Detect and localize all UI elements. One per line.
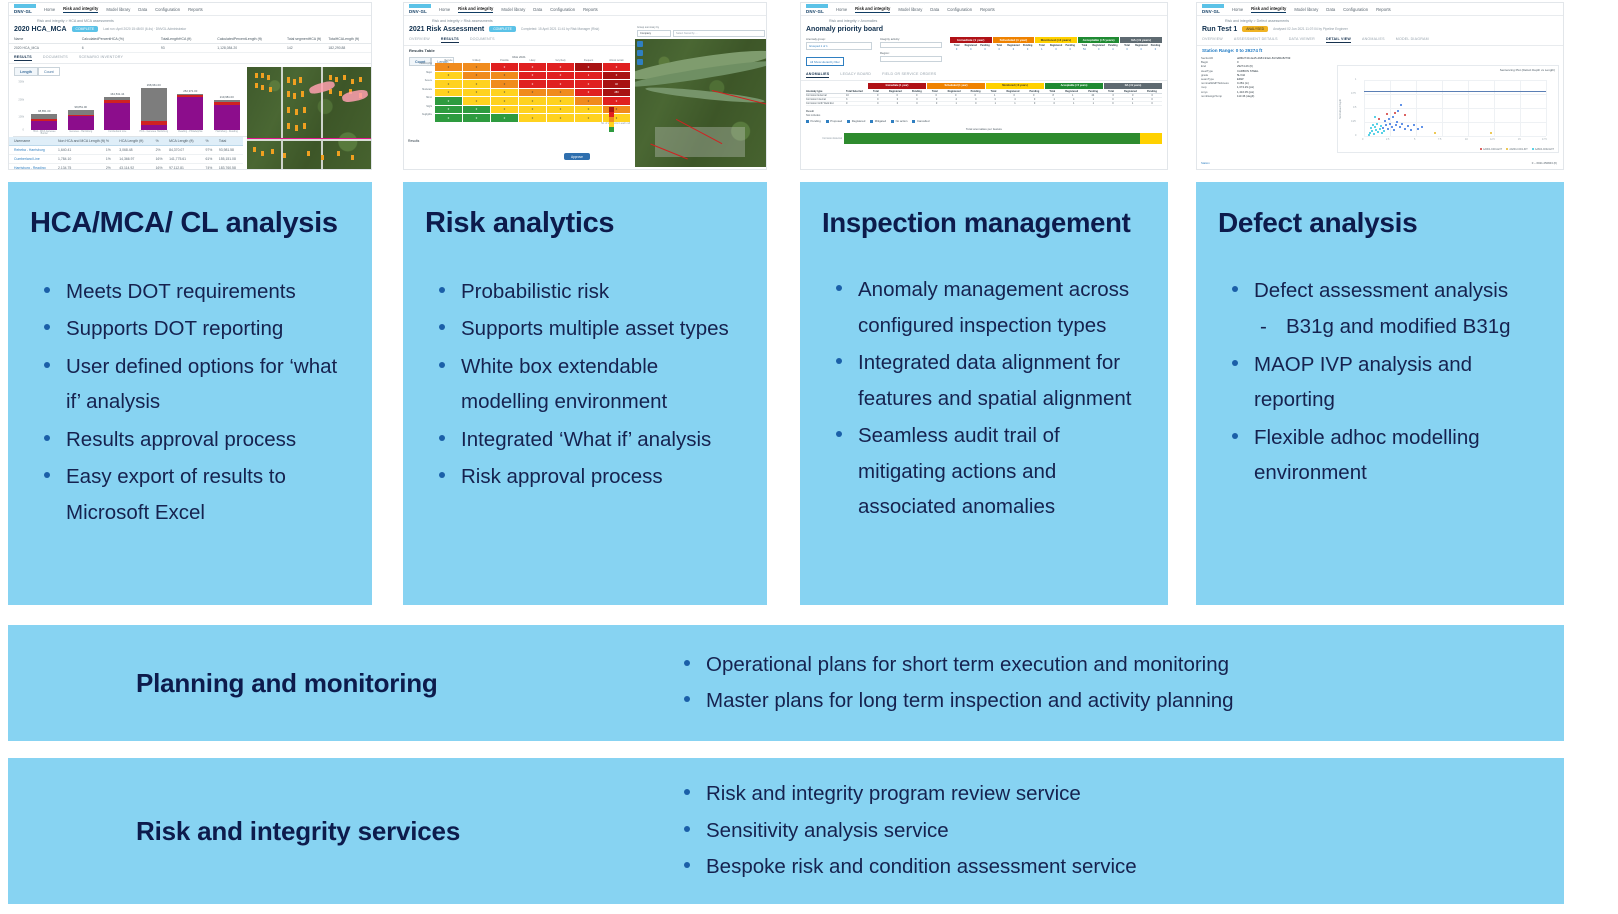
tab-field-service-orders[interactable]: FIELD OR SERVICE ORDERS bbox=[882, 72, 936, 79]
sub-registered: Registered bbox=[1135, 44, 1148, 47]
region-label: Region: bbox=[880, 51, 942, 55]
th-total: Total bbox=[1108, 90, 1114, 93]
matrix-title: Risk 2021 bbox=[408, 55, 630, 59]
th-pending: Pending bbox=[912, 90, 922, 93]
screenshot-strip: DNV·GL Home Risk and integrity Model lib… bbox=[0, 0, 1618, 172]
nav-configuration[interactable]: Configuration bbox=[155, 7, 180, 12]
sub-pending: Pending bbox=[1021, 44, 1034, 47]
nav-home[interactable]: Home bbox=[44, 7, 55, 12]
card-title: Risk analytics bbox=[425, 208, 747, 240]
matrix-cell[interactable]: 0 bbox=[463, 89, 490, 97]
td-pct1: 1% bbox=[106, 148, 119, 152]
matrix-row-0: Catastrophic bbox=[408, 63, 434, 71]
y-tick-100k: 100k bbox=[18, 115, 24, 118]
brand-name: DNV·GL bbox=[409, 9, 427, 14]
list-item: Anomaly management across configured ins… bbox=[822, 272, 1148, 343]
band-acceptable: Acceptable (>5 years) bbox=[1045, 83, 1103, 89]
matrix-cell[interactable]: 0 bbox=[491, 89, 518, 97]
matrix-cell[interactable]: 0 bbox=[519, 106, 546, 114]
matrix-cell[interactable]: 0 bbox=[435, 114, 462, 122]
anomaly-tabs: ANOMALIES LEGACY BOARD FIELD OR SERVICE … bbox=[801, 70, 1167, 82]
legend-ext2: AA804-C002-EXT bbox=[1532, 148, 1554, 151]
list-item: MAOP IVP analysis and reporting bbox=[1218, 347, 1544, 418]
cell-name: 2020 HCA_MCA bbox=[14, 46, 82, 50]
matrix-cell[interactable]: 0 bbox=[491, 72, 518, 80]
td-username: Cumberland Line bbox=[14, 157, 58, 161]
th-mca: MCA Length (ft) bbox=[169, 139, 205, 143]
matrix-cell[interactable]: 0 bbox=[519, 114, 546, 122]
matrix-cell[interactable]: 0 bbox=[491, 63, 518, 71]
hca-bar-chart: 300k 200k 100k 0 98,851.00 98,851.00 bbox=[13, 79, 247, 137]
list-item-text: Defect assessment analysis bbox=[1254, 279, 1508, 302]
list-item: Integrated data alignment for features a… bbox=[822, 345, 1148, 416]
sentencing-scatter-plot[interactable]: Sentencing Plot (Defect Depth vs Length)… bbox=[1337, 65, 1559, 153]
bar-series: 98,851.00 98,851.00 164,531.44 bbox=[26, 81, 245, 130]
matrix-cell[interactable]: 0 bbox=[435, 72, 462, 80]
card-inspection-management: Inspection management Anomaly management… bbox=[800, 182, 1168, 605]
td-total: 155,151.08 bbox=[219, 157, 238, 161]
map-zoom-in-icon[interactable] bbox=[637, 50, 643, 56]
matrix-col-3: Likely bbox=[519, 60, 546, 62]
td-anomaly-type: Corrosion Internal bbox=[806, 98, 846, 101]
bar-3[interactable]: 298,961.00 bbox=[139, 83, 169, 130]
bar-label-3: 298,961.00 bbox=[147, 83, 161, 87]
cell-total-len: 93 bbox=[161, 46, 217, 50]
bar-segment-yellow bbox=[1140, 133, 1162, 144]
logo-mark-icon bbox=[806, 4, 828, 8]
th-registered: Registered bbox=[1006, 90, 1019, 93]
anomaly-bar-chart: Corrosion External bbox=[801, 131, 1167, 146]
matrix-cell[interactable]: 0 bbox=[491, 114, 518, 122]
x-tick-3: 7.5 bbox=[1438, 138, 1441, 141]
list-item: Operational plans for short term executi… bbox=[670, 647, 1234, 683]
run-info: Analysed 02 Jun 2021 11:07:04 by Pipelin… bbox=[1273, 27, 1348, 31]
matrix-cell[interactable]: 0 bbox=[435, 106, 462, 114]
app-navbar: DNV·GL Home Risk and integrity Model lib… bbox=[404, 3, 766, 16]
tab-documents[interactable]: DOCUMENTS bbox=[470, 37, 495, 44]
pipeline-route bbox=[247, 138, 372, 139]
matrix-cell[interactable]: 0 bbox=[547, 72, 574, 80]
tab-anomalies[interactable]: ANOMALIES bbox=[806, 72, 829, 79]
th-anomaly-type: Anomaly type bbox=[806, 90, 846, 93]
tab-data-viewer[interactable]: DATA VIEWER bbox=[1289, 37, 1315, 44]
x-tick-0: 0 bbox=[1362, 138, 1363, 141]
nav-model-library[interactable]: Model library bbox=[898, 7, 922, 12]
bar-label-0: 98,851.00 bbox=[38, 109, 50, 113]
th-registered: Registered bbox=[948, 90, 961, 93]
nav-configuration[interactable]: Configuration bbox=[947, 7, 972, 12]
anomaly-group-field: Anomaly group: Grouped 1 of 1 All Show H… bbox=[806, 37, 872, 68]
matrix-cell[interactable]: 0 bbox=[463, 63, 490, 71]
y-tick-200k: 200k bbox=[18, 98, 24, 101]
matrix-cell[interactable]: 0 bbox=[575, 89, 602, 97]
risk-map-view[interactable]: Group summary by Company Select hierarch… bbox=[635, 25, 767, 170]
td-pct2: 16% bbox=[156, 166, 169, 170]
matrix-cell[interactable]: 0 bbox=[547, 114, 574, 122]
td-pct2: 2% bbox=[156, 148, 169, 152]
th-nonhca: Non HCA and MCA Length (ft) bbox=[58, 139, 106, 143]
anomaly-group-select[interactable]: Grouped 1 of 1 bbox=[806, 42, 872, 50]
detail-row: nomDesignTemp113.46 (degF) bbox=[1201, 94, 1329, 98]
matrix-cell[interactable]: 0 bbox=[463, 106, 490, 114]
breadcrumb[interactable]: Risk and integrity > Anomalies bbox=[801, 16, 1167, 25]
toggle-length[interactable]: Length bbox=[14, 67, 38, 76]
td-pct1: 2% bbox=[106, 166, 119, 170]
sub-pending: Pending bbox=[978, 44, 991, 47]
hca-map-view[interactable] bbox=[247, 67, 372, 170]
td-pct2: 16% bbox=[156, 157, 169, 161]
list-item: Sensitivity analysis service bbox=[670, 813, 1137, 849]
sub-total: Total bbox=[993, 44, 1006, 47]
matrix-cell[interactable]: 0 bbox=[463, 114, 490, 122]
matrix-cell[interactable]: 0 bbox=[519, 89, 546, 97]
tab-documents[interactable]: DOCUMENTS bbox=[43, 55, 68, 62]
hca-polygon bbox=[341, 88, 369, 103]
station-range-title: Station Range: 0 to 29274 ft bbox=[1197, 46, 1563, 54]
bar-track[interactable] bbox=[844, 133, 1162, 144]
matrix-cell[interactable]: 0 bbox=[603, 72, 630, 80]
nav-reports[interactable]: Reports bbox=[188, 7, 203, 12]
band-immediate: Immediate (1 year) bbox=[950, 37, 992, 44]
banner-planning-and-monitoring: Planning and monitoring Operational plan… bbox=[8, 625, 1564, 741]
brand-name: DNV·GL bbox=[14, 9, 32, 14]
breadcrumb[interactable]: Risk and integrity > HCA and MCA assessm… bbox=[9, 16, 371, 25]
matrix-row-4: Minor bbox=[408, 97, 434, 105]
nav-risk-and-integrity[interactable]: Risk and integrity bbox=[63, 6, 98, 13]
region-select[interactable] bbox=[880, 56, 942, 62]
cell-total-hca-len: 182,290.88 bbox=[328, 46, 366, 50]
footer-value: 0 – 6021.250843 (ft) bbox=[1532, 161, 1557, 165]
list-item: Flexible adhoc modelling environment bbox=[1218, 420, 1544, 491]
results-tabs: RESULTS DOCUMENTS SCENARIO INVENTORY bbox=[9, 53, 371, 65]
nav-home[interactable]: Home bbox=[439, 7, 450, 12]
x-tick-4: 10 bbox=[1465, 138, 1468, 141]
legend-no-action: No action bbox=[891, 119, 907, 123]
band-scheduled: Scheduled (1 year) bbox=[927, 83, 985, 89]
y-tick-1: 0.75 bbox=[1351, 92, 1356, 95]
anomaly-group-label: Anomaly group: bbox=[806, 37, 872, 41]
td-pct1: 1% bbox=[106, 157, 119, 161]
scatter-grid bbox=[1338, 66, 1558, 152]
band-monitored: Monitored (<3 years) bbox=[1035, 37, 1077, 44]
card-bullet-list: Anomaly management across configured ins… bbox=[822, 272, 1148, 524]
map-layers-icon[interactable] bbox=[637, 41, 643, 47]
matrix-cell[interactable]: 0 bbox=[547, 63, 574, 71]
nav-risk-and-integrity[interactable]: Risk and integrity bbox=[1251, 6, 1286, 13]
y-tick-300k: 300k bbox=[18, 81, 24, 84]
th-pending: Pending bbox=[1147, 90, 1157, 93]
tab-overview[interactable]: OVERVIEW bbox=[1202, 37, 1223, 44]
list-item: Master plans for long term inspection an… bbox=[670, 683, 1234, 719]
matrix-cell[interactable]: 0 bbox=[575, 106, 602, 114]
integrity-activity-field: Integrity activity: Region: bbox=[880, 37, 942, 68]
bar-label-2: 164,531.44 bbox=[110, 92, 124, 96]
band-acceptable: Acceptable (>5 years) bbox=[1078, 37, 1120, 44]
matrix-row-1: Major bbox=[408, 72, 434, 80]
matrix-cell[interactable]: 0 bbox=[547, 80, 574, 88]
card-bullet-list: Probabilistic risk Supports multiple ass… bbox=[425, 274, 747, 495]
th-pct1: % bbox=[106, 139, 119, 143]
slide-root: DNV·GL Home Risk and integrity Model lib… bbox=[0, 0, 1618, 914]
matrix-cell[interactable]: 280 bbox=[603, 89, 630, 97]
td-username: Reheba - Harrisburg bbox=[14, 148, 58, 152]
td-username: Harrisburg - Reading bbox=[14, 166, 58, 170]
tab-scenario-inventory[interactable]: SCENARIO INVENTORY bbox=[79, 55, 123, 62]
x-tick-7: 17.5 bbox=[1542, 138, 1547, 141]
satellite-imagery bbox=[247, 67, 372, 170]
list-item: Risk approval process bbox=[425, 459, 747, 494]
matrix-cell[interactable]: 0 bbox=[463, 97, 490, 105]
acceptance-threshold-line bbox=[1364, 91, 1546, 92]
matrix-cell[interactable]: 0 bbox=[603, 63, 630, 71]
nav-model-library[interactable]: Model library bbox=[501, 7, 525, 12]
nav-model-library[interactable]: Model library bbox=[1294, 7, 1318, 12]
matrix-cell[interactable]: 1 bbox=[575, 72, 602, 80]
band-monitored: Monitored (<3 years) bbox=[986, 83, 1044, 89]
list-item: Results approval process bbox=[30, 422, 352, 457]
sub-bullet-list: B31g and modified B31g bbox=[1254, 309, 1544, 344]
legend-pending: Pending bbox=[806, 119, 821, 123]
tab-results[interactable]: RESULTS bbox=[14, 55, 32, 62]
bar-stack-1 bbox=[68, 110, 94, 130]
footer-label: Station bbox=[1201, 161, 1210, 165]
legend-mitigated: Mitigated bbox=[870, 119, 886, 123]
bar-stack-2 bbox=[104, 97, 130, 130]
approve-button[interactable]: Approve bbox=[564, 153, 590, 160]
status-badge: ANALYSED bbox=[1242, 26, 1268, 32]
td-total: 183,760.58 bbox=[219, 166, 238, 170]
matrix-cell[interactable]: 0 bbox=[519, 80, 546, 88]
bar-0[interactable]: 98,851.00 bbox=[29, 109, 59, 130]
map-filters: Company Select hierarchy ... bbox=[635, 30, 767, 39]
app-logo: DNV·GL bbox=[409, 4, 431, 14]
anomaly-matrix-table: Immediate (1 year) Scheduled (1 year) Mo… bbox=[801, 81, 1167, 108]
nav-reports[interactable]: Reports bbox=[980, 7, 995, 12]
nav-home[interactable]: Home bbox=[836, 7, 847, 12]
td-pct3: 74% bbox=[205, 166, 218, 170]
nav-risk-and-integrity[interactable]: Risk and integrity bbox=[458, 6, 493, 13]
page-title: 2020 HCA_MCA bbox=[14, 26, 67, 33]
legend-swatches bbox=[609, 107, 614, 132]
map-hierarchy-select[interactable]: Select hierarchy ... bbox=[673, 30, 765, 37]
matrix-cell[interactable]: 0 bbox=[575, 114, 602, 122]
matrix-cell[interactable]: 0 bbox=[491, 106, 518, 114]
bar-1[interactable]: 98,851.00 bbox=[66, 105, 96, 130]
matrix-cell[interactable]: 40 bbox=[603, 80, 630, 88]
nav-risk-and-integrity[interactable]: Risk and integrity bbox=[855, 6, 890, 13]
sub-registered: Registered bbox=[964, 44, 977, 47]
thumbnail-hca-mca[interactable]: DNV·GL Home Risk and integrity Model lib… bbox=[8, 2, 372, 170]
matrix-row-2: Severe bbox=[408, 80, 434, 88]
list-item: Bespoke risk and condition assessment se… bbox=[670, 849, 1137, 885]
bar-segment-green bbox=[844, 133, 1140, 144]
app-navbar: DNV·GL Home Risk and integrity Model lib… bbox=[801, 3, 1167, 16]
matrix-cell[interactable]: 0 bbox=[603, 97, 630, 105]
logo-mark-icon bbox=[1202, 4, 1224, 8]
bar-4[interactable]: 252,971.00 bbox=[175, 89, 205, 131]
tab-detail-view[interactable]: DETAIL VIEW bbox=[1326, 37, 1351, 44]
band-na: NA (>9 years) bbox=[1104, 83, 1162, 89]
td-nonhca: 1,784.10 bbox=[58, 157, 106, 161]
thumbnail-inspection-management[interactable]: DNV·GL Home Risk and integrity Model lib… bbox=[800, 2, 1168, 170]
x-label-3: HCA - Genesee Harrisburg bbox=[139, 131, 169, 136]
nav-data[interactable]: Data bbox=[138, 7, 147, 12]
table-row[interactable]: Reheba - Harrisburg 1,640.41 1% 3,068.48… bbox=[9, 146, 243, 155]
matrix-footnote: No. of segments in each cell bbox=[408, 123, 630, 125]
thumbnail-defect-analysis[interactable]: DNV·GL Home Risk and integrity Model lib… bbox=[1196, 2, 1564, 170]
summary-table-row[interactable]: 2020 HCA_MCA 6 93 1,128,084.20 142 182,2… bbox=[9, 44, 371, 53]
matrix-cell[interactable]: 0 bbox=[435, 89, 462, 97]
sub-registered: Registered bbox=[1049, 44, 1062, 47]
tab-legacy-board[interactable]: LEGACY BOARD bbox=[840, 72, 871, 79]
banner-bullet-list: Risk and integrity program review servic… bbox=[670, 776, 1137, 885]
col-total-len-hca: TotalLengthHCA (ft) bbox=[161, 37, 217, 41]
matrix-cell[interactable]: 0 bbox=[491, 97, 518, 105]
matrix-cell[interactable]: 0 bbox=[547, 89, 574, 97]
matrix-cell[interactable]: 0 bbox=[603, 106, 630, 114]
list-item: Supports DOT reporting bbox=[30, 311, 352, 346]
matrix-col-0: Remote bbox=[435, 60, 462, 62]
y-tick-4: 0 bbox=[1355, 134, 1356, 137]
legend-proposed: Proposed bbox=[826, 119, 842, 123]
card-hca-mca-cl-analysis: HCA/MCA/ CL analysis Meets DOT requireme… bbox=[8, 182, 372, 605]
th-total: Total bbox=[932, 90, 938, 93]
sub-list-item: B31g and modified B31g bbox=[1254, 309, 1544, 344]
card-defect-analysis: Defect analysis Defect assessment analys… bbox=[1196, 182, 1564, 605]
th-total: Total bbox=[1049, 90, 1055, 93]
banner-title: Risk and integrity services bbox=[8, 816, 670, 847]
nav-data[interactable]: Data bbox=[533, 7, 542, 12]
card-bullet-list: Defect assessment analysis B31g and modi… bbox=[1218, 273, 1544, 491]
nav-reports[interactable]: Reports bbox=[583, 7, 598, 12]
matrix-cell[interactable]: 0 bbox=[435, 80, 462, 88]
y-tick-3: 0.25 bbox=[1351, 120, 1356, 123]
td-mca: 97,112.81 bbox=[169, 166, 205, 170]
nav-data[interactable]: Data bbox=[930, 7, 939, 12]
x-tick-5: 12.5 bbox=[1490, 138, 1495, 141]
nav-data[interactable]: Data bbox=[1326, 7, 1335, 12]
matrix-cell[interactable]: 0 bbox=[463, 80, 490, 88]
nav-configuration[interactable]: Configuration bbox=[1343, 7, 1368, 12]
list-item: Risk and integrity program review servic… bbox=[670, 776, 1137, 812]
integrity-activity-select[interactable] bbox=[880, 42, 942, 48]
th-total: Total bbox=[991, 90, 997, 93]
matrix-cell[interactable]: 0 bbox=[547, 97, 574, 105]
matrix-cell[interactable]: 0 bbox=[603, 114, 630, 122]
sub-total: Total bbox=[1035, 44, 1048, 47]
map-company-select[interactable]: Company bbox=[637, 30, 671, 37]
nav-home[interactable]: Home bbox=[1232, 7, 1243, 12]
th-pct3: % bbox=[205, 139, 218, 143]
priority-counts: 0000001005404000 bbox=[950, 48, 1162, 51]
th-total-selected: Total Selected bbox=[846, 90, 868, 93]
matrix-cell[interactable]: 0 bbox=[519, 72, 546, 80]
matrix-cell[interactable]: 0 bbox=[575, 63, 602, 71]
risk-matrix: Risk 2021 Remote Unlikely Possible Likel… bbox=[408, 55, 630, 125]
bar-row-label: Corrosion External bbox=[806, 137, 842, 140]
td-hca: 43,114.92 bbox=[119, 166, 155, 170]
integrity-activity-label: Integrity activity: bbox=[880, 37, 942, 41]
nav-model-library[interactable]: Model library bbox=[106, 7, 130, 12]
legend-int1: AA804-C001-INT bbox=[1506, 148, 1528, 151]
td-hca: 3,068.48 bbox=[119, 148, 155, 152]
app-logo: DNV·GL bbox=[1202, 4, 1224, 14]
th-total: Total bbox=[873, 90, 879, 93]
cell-total-seg: 142 bbox=[287, 46, 328, 50]
thumbnail-risk-analytics[interactable]: DNV·GL Home Risk and integrity Model lib… bbox=[403, 2, 767, 170]
nav-configuration[interactable]: Configuration bbox=[550, 7, 575, 12]
matrix-cell[interactable]: 0 bbox=[463, 72, 490, 80]
priority-summary: Immediate (1 year) Scheduled (1 year) Mo… bbox=[950, 37, 1162, 68]
map-zoom-out-icon[interactable] bbox=[637, 59, 643, 65]
tab-anomalies[interactable]: ANOMALIES bbox=[1362, 37, 1385, 44]
section-details: SectionIDa08b2740-4a15-4b84-93eb-817a80c… bbox=[1197, 54, 1333, 100]
matrix-col-4: Very likely bbox=[547, 60, 574, 62]
tab-model-diagram[interactable]: MODEL DIAGRAM bbox=[1396, 37, 1429, 44]
run-info: Completed: 15 April 2021 11:41 by Risk M… bbox=[521, 27, 599, 31]
breadcrumb[interactable]: Risk and integrity > Risk assessments bbox=[404, 16, 766, 25]
x-label-2: Cumberland Line bbox=[102, 131, 132, 136]
card-risk-analytics: Risk analytics Probabilistic risk Suppor… bbox=[403, 182, 767, 605]
list-item: Defect assessment analysis B31g and modi… bbox=[1218, 273, 1544, 345]
defect-tabs: OVERVIEW ASSESSMENT DETAILS DATA VIEWER … bbox=[1197, 35, 1563, 47]
table-row[interactable]: Harrisburg - Reading 2,134.75 2% 43,114.… bbox=[9, 164, 243, 170]
hierarchy-filter-button[interactable]: All Show Hierarchy filter bbox=[806, 57, 844, 66]
bar-2[interactable]: 164,531.44 bbox=[102, 92, 132, 130]
th-username: Username bbox=[14, 139, 58, 143]
scatter-legend: AA804-C001-EXT AA804-C001-INT AA804-C002… bbox=[1480, 148, 1554, 151]
th-hca: HCA Length (ft) bbox=[119, 139, 155, 143]
matrix-legend bbox=[609, 107, 614, 132]
toggle-count[interactable]: Count bbox=[38, 67, 60, 76]
list-item: Supports multiple asset types bbox=[425, 311, 747, 346]
table-row[interactable]: Corrosion Girth Weld Ext 0 0000101100110… bbox=[806, 102, 1162, 106]
nav-reports[interactable]: Reports bbox=[1376, 7, 1391, 12]
tab-overview[interactable]: OVERVIEW bbox=[409, 37, 430, 44]
td-mca: 84,370.07 bbox=[169, 148, 205, 152]
legend-registered: Registered bbox=[847, 119, 865, 123]
matrix-cell[interactable]: 0 bbox=[547, 106, 574, 114]
status-legend: Pending Proposed Registered Mitigated No… bbox=[801, 117, 1167, 125]
matrix-cell[interactable]: 0 bbox=[435, 97, 462, 105]
y-tick-2: 0.5 bbox=[1353, 106, 1356, 109]
td-hca: 14,366.97 bbox=[119, 157, 155, 161]
matrix-col-5: Frequent bbox=[575, 60, 602, 62]
th-registered: Registered bbox=[1065, 90, 1078, 93]
th-pending: Pending bbox=[1088, 90, 1098, 93]
col-pct-hca: CalculatedPercentHCA (%) bbox=[82, 37, 161, 41]
table-row[interactable]: Cumberland Line 1,784.10 1% 14,366.97 16… bbox=[9, 155, 243, 164]
tab-results[interactable]: RESULTS bbox=[441, 37, 459, 44]
bar-5[interactable]: 219,981.00 bbox=[212, 95, 242, 131]
matrix-cell[interactable]: 0 bbox=[575, 97, 602, 105]
y-tick-0: 0 bbox=[23, 129, 24, 132]
matrix-cell[interactable]: 0 bbox=[519, 63, 546, 71]
tab-assessment-details[interactable]: ASSESSMENT DETAILS bbox=[1234, 37, 1278, 44]
list-item: User defined options for ‘what if’ analy… bbox=[30, 349, 352, 420]
page-title-row: 2020 HCA_MCA COMPLETE Last run: April 20… bbox=[9, 25, 371, 35]
matrix-cell[interactable]: 0 bbox=[491, 80, 518, 88]
matrix-cell[interactable]: 0 bbox=[575, 80, 602, 88]
matrix-cell[interactable]: 0 bbox=[435, 63, 462, 71]
breadcrumb[interactable]: Risk and integrity > Defect assessments bbox=[1197, 16, 1563, 25]
app-logo: DNV·GL bbox=[14, 4, 36, 14]
band-scheduled: Scheduled (1 year) bbox=[993, 37, 1035, 44]
matrix-cell[interactable]: 0 bbox=[519, 97, 546, 105]
th-pct2: % bbox=[156, 139, 169, 143]
bar-stack-5 bbox=[214, 100, 240, 131]
banner-bullet-list: Operational plans for short term executi… bbox=[670, 647, 1234, 720]
